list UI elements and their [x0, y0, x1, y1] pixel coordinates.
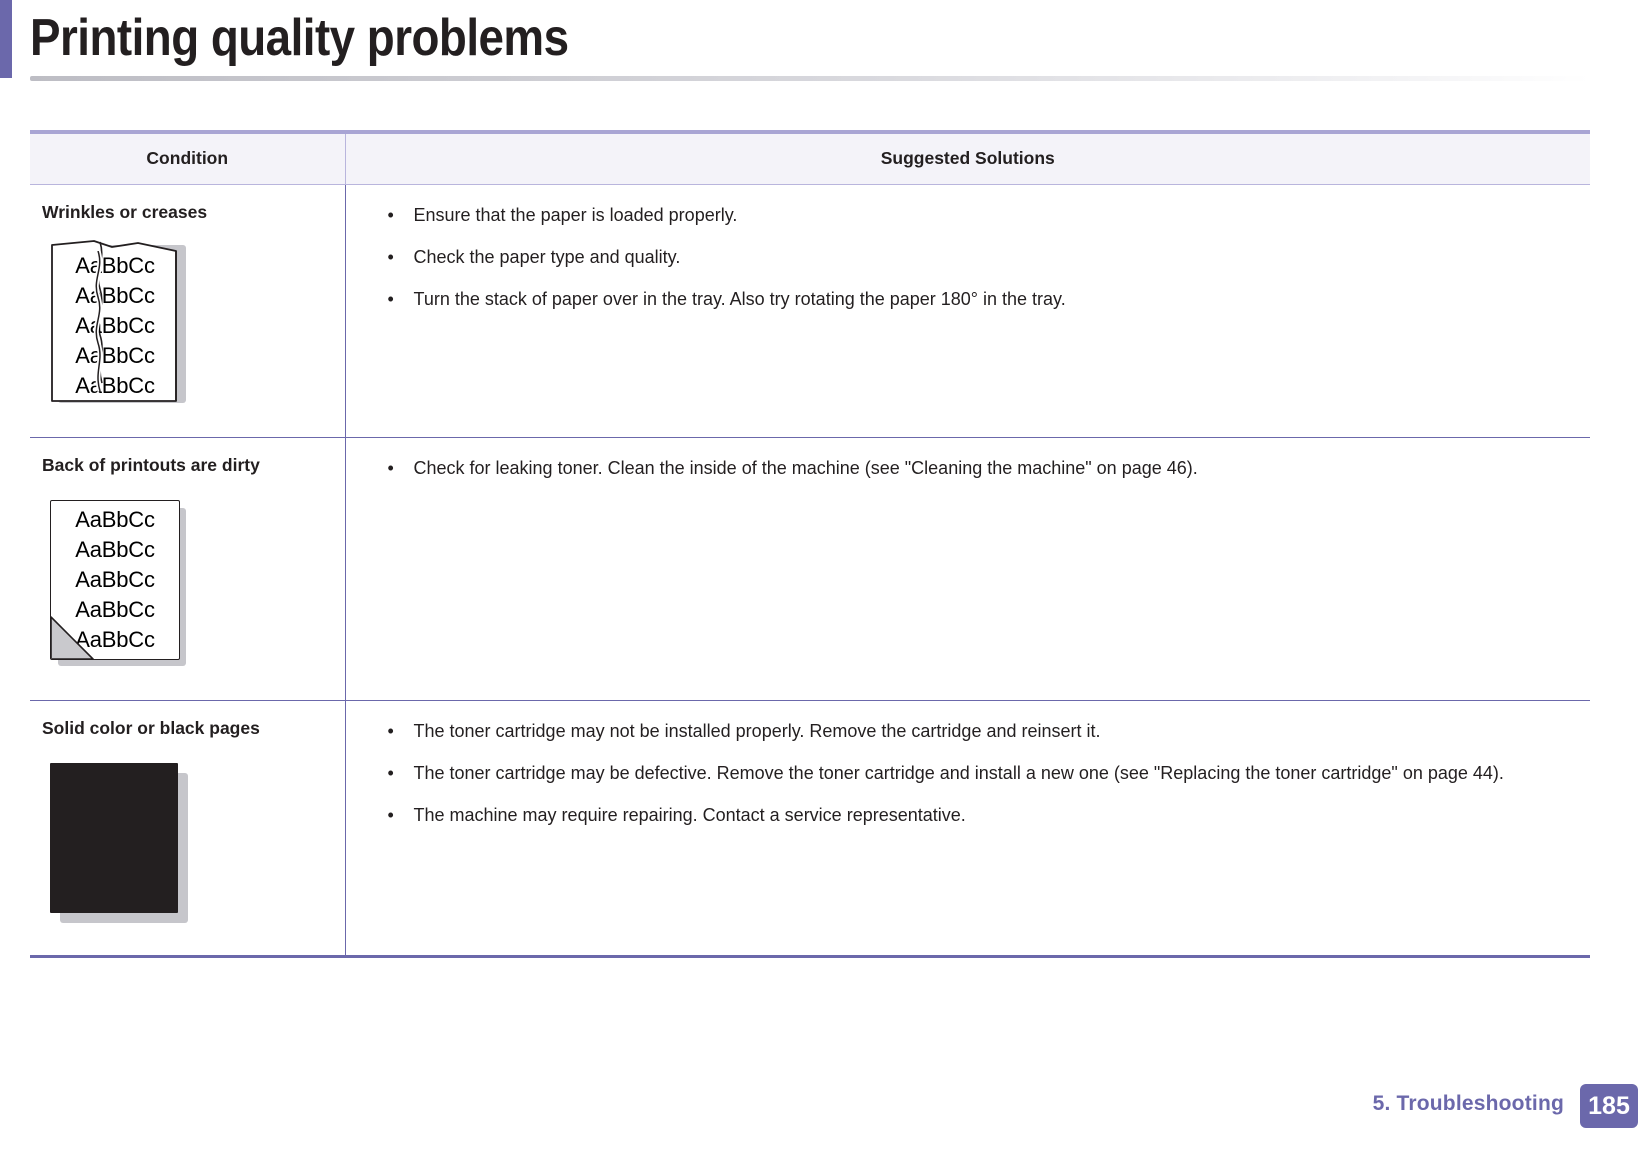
header-accent-bar	[0, 0, 12, 78]
solution-item: • Ensure that the paper is loaded proper…	[382, 201, 1575, 229]
column-header-suggested-solutions: Suggested Solutions	[345, 132, 1590, 185]
sample-line: AaBbCc	[52, 311, 178, 341]
bullet-icon: •	[388, 201, 394, 229]
table-row: Back of printouts are dirty AaBbCc AaBbC…	[30, 438, 1590, 701]
solution-text: Check for leaking toner. Clean the insid…	[414, 458, 1198, 478]
bullet-icon: •	[388, 759, 394, 787]
printing-quality-problems-table: Condition Suggested Solutions Wrinkles o…	[30, 130, 1590, 958]
solutions-cell: • Ensure that the paper is loaded proper…	[345, 185, 1590, 438]
footer-section-label: 5. Troubleshooting	[1373, 1092, 1564, 1116]
condition-title: Wrinkles or creases	[42, 201, 333, 223]
sample-illustration-wrinkled-paper: AaBbCc AaBbCc AaBbCc AaBbCc AaBbCc	[48, 235, 198, 415]
solution-text: The toner cartridge may not be installed…	[414, 721, 1101, 741]
table-body: Wrinkles or creases AaBbCc AaBbCc AaBbCc	[30, 185, 1590, 957]
sample-line: AaBbCc	[51, 535, 179, 565]
solution-item: • The machine may require repairing. Con…	[382, 801, 1575, 829]
header-divider-rule	[30, 76, 1590, 81]
solution-text: Check the paper type and quality.	[414, 247, 681, 267]
solution-text: The toner cartridge may be defective. Re…	[414, 763, 1504, 783]
solution-item: • Check for leaking toner. Clean the ins…	[382, 454, 1575, 482]
sample-line: AaBbCc	[52, 281, 178, 311]
sample-line: AaBbCc	[52, 371, 178, 401]
solution-item: • The toner cartridge may not be install…	[382, 717, 1575, 745]
folded-corner-shape	[51, 603, 107, 659]
solution-item: • Turn the stack of paper over in the tr…	[382, 285, 1575, 313]
bullet-icon: •	[388, 285, 394, 313]
sample-illustration-solid-black-page	[48, 761, 198, 933]
solution-text: Turn the stack of paper over in the tray…	[414, 289, 1066, 309]
bullet-icon: •	[388, 717, 394, 745]
solid-black-sheet	[50, 763, 178, 913]
solutions-cell: • The toner cartridge may not be install…	[345, 701, 1590, 957]
page-header: Printing quality problems	[0, 0, 1650, 92]
solution-text: The machine may require repairing. Conta…	[414, 805, 966, 825]
sample-line: AaBbCc	[51, 565, 179, 595]
condition-title: Solid color or black pages	[42, 717, 333, 739]
solution-item: • The toner cartridge may be defective. …	[382, 759, 1575, 787]
sample-line: AaBbCc	[51, 505, 179, 535]
solutions-list: • Ensure that the paper is loaded proper…	[382, 201, 1575, 313]
page-title: Printing quality problems	[30, 2, 569, 74]
table-header-row: Condition Suggested Solutions	[30, 132, 1590, 185]
condition-cell: Wrinkles or creases AaBbCc AaBbCc AaBbCc	[30, 185, 345, 438]
sample-line: AaBbCc	[52, 251, 178, 281]
sample-line: AaBbCc	[52, 341, 178, 371]
page-number-badge: 185	[1580, 1084, 1638, 1128]
solution-item: • Check the paper type and quality.	[382, 243, 1575, 271]
table-row: Solid color or black pages • The toner c…	[30, 701, 1590, 957]
bullet-icon: •	[388, 243, 394, 271]
table-header: Condition Suggested Solutions	[30, 132, 1590, 185]
wrinkled-paper-text: AaBbCc AaBbCc AaBbCc AaBbCc AaBbCc	[52, 251, 178, 401]
bullet-icon: •	[388, 801, 394, 829]
bullet-icon: •	[388, 454, 394, 482]
paper-sheet: AaBbCc AaBbCc AaBbCc AaBbCc AaBbCc	[50, 500, 180, 660]
solution-text: Ensure that the paper is loaded properly…	[414, 205, 738, 225]
solutions-cell: • Check for leaking toner. Clean the ins…	[345, 438, 1590, 701]
page-footer: 5. Troubleshooting 185	[0, 1084, 1650, 1130]
table-row: Wrinkles or creases AaBbCc AaBbCc AaBbCc	[30, 185, 1590, 438]
solutions-list: • The toner cartridge may not be install…	[382, 717, 1575, 829]
condition-title: Back of printouts are dirty	[42, 454, 333, 476]
folded-corner-icon	[51, 603, 107, 659]
column-header-condition: Condition	[30, 132, 345, 185]
condition-cell: Solid color or black pages	[30, 701, 345, 957]
solutions-list: • Check for leaking toner. Clean the ins…	[382, 454, 1575, 482]
condition-cell: Back of printouts are dirty AaBbCc AaBbC…	[30, 438, 345, 701]
sample-illustration-folded-corner-paper: AaBbCc AaBbCc AaBbCc AaBbCc AaBbCc	[48, 498, 198, 678]
